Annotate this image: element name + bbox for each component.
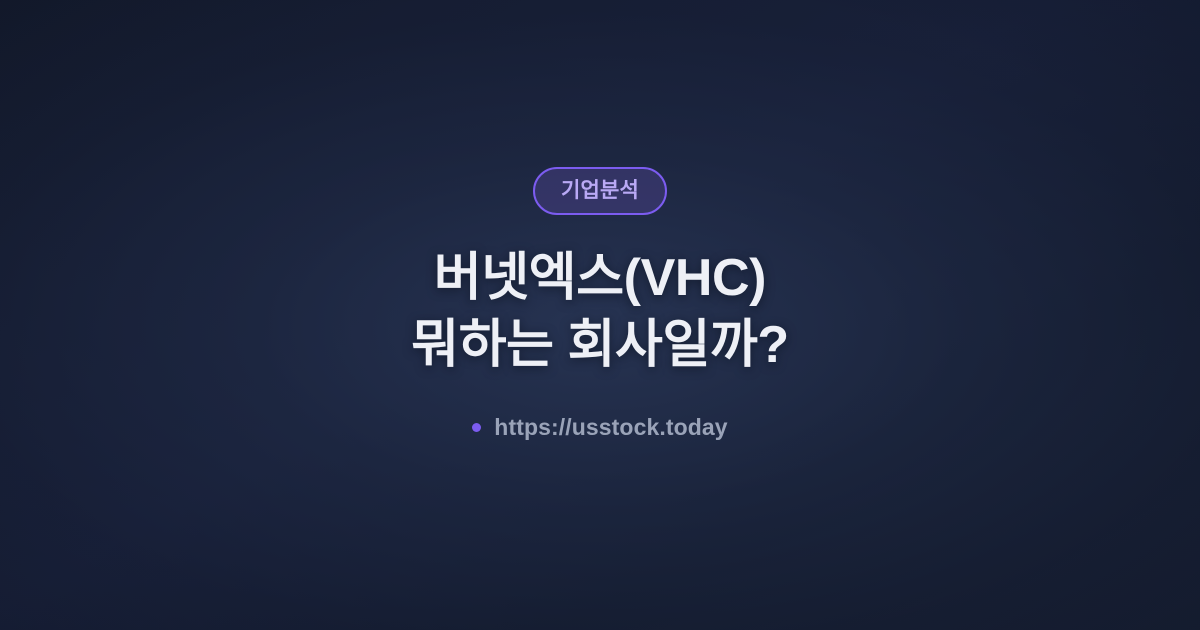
title-line-2: 뭐하는 회사일까? <box>411 312 789 379</box>
title-line-1: 버넷엑스(VHC) <box>411 245 789 312</box>
og-card: 기업분석 버넷엑스(VHC) 뭐하는 회사일까? https://usstock… <box>0 0 1200 630</box>
dot-icon <box>472 423 481 432</box>
category-badge-label: 기업분석 <box>561 180 639 201</box>
category-badge: 기업분석 <box>533 167 667 215</box>
page-title: 버넷엑스(VHC) 뭐하는 회사일까? <box>411 245 789 378</box>
site-url-label: https://usstock.today <box>494 416 727 439</box>
site-url-row: https://usstock.today <box>472 416 727 439</box>
card-content: 기업분석 버넷엑스(VHC) 뭐하는 회사일까? https://usstock… <box>0 167 1200 439</box>
